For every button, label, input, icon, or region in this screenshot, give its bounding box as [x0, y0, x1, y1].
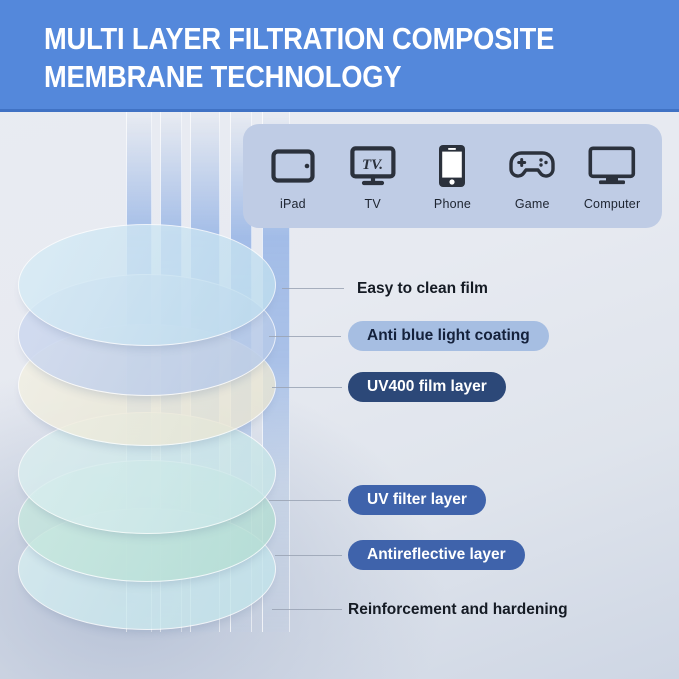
device-label-computer: Computer: [584, 197, 640, 211]
layer-label-uv-filter: UV filter layer: [348, 485, 486, 515]
device-label-game: Game: [515, 197, 550, 211]
connector-line-uv-filter: [269, 500, 341, 501]
header-banner: MULTI LAYER FILTRATION COMPOSITE MEMBRAN…: [0, 0, 679, 112]
lens-disc-easy-clean: [18, 224, 276, 346]
device-item-phone: Phone: [415, 142, 489, 211]
connector-line-uv400: [272, 387, 342, 388]
infographic-page: MULTI LAYER FILTRATION COMPOSITE MEMBRAN…: [0, 0, 679, 679]
connector-line-anti-blue-light: [269, 336, 341, 337]
phone-icon: [438, 142, 466, 190]
layer-label-uv400: UV400 film layer: [348, 372, 506, 402]
monitor-icon: [588, 142, 636, 190]
device-compatibility-box: iPad TV. TV Phone: [243, 124, 662, 228]
device-item-ipad: iPad: [256, 142, 330, 211]
layer-label-anti-blue-light: Anti blue light coating: [348, 321, 549, 351]
device-item-tv: TV. TV: [336, 142, 410, 211]
device-label-tv: TV: [365, 197, 381, 211]
tv-icon: TV.: [350, 142, 396, 190]
device-label-ipad: iPad: [280, 197, 306, 211]
connector-line-easy-clean: [282, 288, 344, 289]
tablet-icon: [271, 142, 315, 190]
layer-label-reinforcement: Reinforcement and hardening: [348, 595, 568, 625]
connector-line-reinforcement: [272, 609, 342, 610]
device-item-game: Game: [495, 142, 569, 211]
layer-label-antireflective: Antireflective layer: [348, 540, 525, 570]
page-title: MULTI LAYER FILTRATION COMPOSITE MEMBRAN…: [44, 20, 572, 97]
device-item-computer: Computer: [575, 142, 649, 211]
layer-label-easy-clean: Easy to clean film: [357, 274, 488, 304]
device-label-phone: Phone: [434, 197, 471, 211]
gamepad-icon: [508, 142, 556, 190]
svg-text:TV.: TV.: [362, 157, 383, 173]
connector-line-antireflective: [275, 555, 342, 556]
